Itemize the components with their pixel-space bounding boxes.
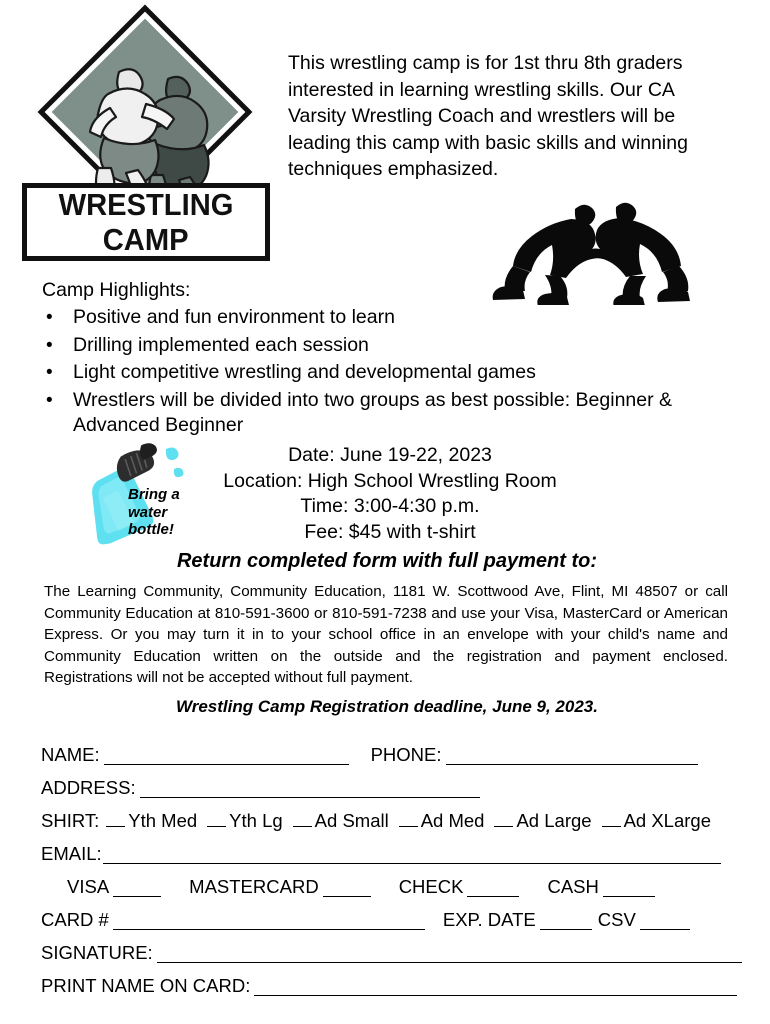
visa-checkbox[interactable] bbox=[113, 877, 161, 897]
list-item-label: Light competitive wrestling and developm… bbox=[73, 361, 536, 383]
detail-date: Date: June 19-22, 2023 bbox=[190, 443, 590, 469]
logo-title-line1: WRESTLING bbox=[59, 189, 234, 220]
email-label: EMAIL: bbox=[41, 841, 102, 867]
bottle-caption-line3: bottle! bbox=[128, 521, 198, 539]
csv-label: CSV bbox=[598, 907, 636, 933]
form-row-email: EMAIL: bbox=[41, 834, 733, 867]
shirt-checkbox bbox=[293, 812, 312, 827]
intro-paragraph: This wrestling camp is for 1st thru 8th … bbox=[288, 50, 734, 183]
bottle-caption-line2: water bbox=[128, 504, 198, 522]
list-item: •Drilling implemented each session bbox=[42, 333, 742, 359]
return-instruction-heading: Return completed form with full payment … bbox=[42, 550, 732, 573]
check-checkbox[interactable] bbox=[467, 877, 519, 897]
mastercard-label: MASTERCARD bbox=[189, 874, 319, 900]
logo-title-line2: CAMP bbox=[103, 224, 189, 255]
print-name-label: PRINT NAME ON CARD: bbox=[41, 973, 250, 999]
print-name-input[interactable] bbox=[254, 976, 737, 996]
form-row-payment-method: VISA MASTERCARD CHECK CASH bbox=[41, 867, 733, 900]
address-label: ADDRESS: bbox=[41, 775, 136, 801]
csv-input[interactable] bbox=[640, 910, 690, 930]
signature-label: SIGNATURE: bbox=[41, 940, 153, 966]
shirt-option-label: Yth Lg bbox=[229, 810, 283, 831]
bullet-icon: • bbox=[46, 305, 53, 331]
shirt-checkbox bbox=[494, 812, 513, 827]
shirt-option-label: Ad Med bbox=[421, 810, 485, 831]
card-number-input[interactable] bbox=[113, 910, 425, 930]
shirt-option-ad-med[interactable]: Ad Med bbox=[399, 808, 485, 834]
shirt-label: SHIRT: bbox=[41, 808, 99, 834]
name-label: NAME: bbox=[41, 742, 100, 768]
shirt-option-label: Ad Large bbox=[516, 810, 591, 831]
shirt-option-label: Ad Small bbox=[315, 810, 389, 831]
bullet-icon: • bbox=[46, 388, 53, 414]
shirt-option-label: Yth Med bbox=[128, 810, 197, 831]
wrestling-camp-logo: WRESTLING CAMP bbox=[22, 28, 272, 263]
phone-label: PHONE: bbox=[371, 742, 442, 768]
exp-date-input[interactable] bbox=[540, 910, 592, 930]
shirt-checkbox bbox=[207, 812, 226, 827]
signature-input[interactable] bbox=[157, 943, 742, 963]
shirt-checkbox bbox=[106, 812, 125, 827]
bullet-icon: • bbox=[46, 360, 53, 386]
shirt-checkbox bbox=[602, 812, 621, 827]
detail-fee: Fee: $45 with t-shirt bbox=[190, 520, 590, 546]
list-item-label: Drilling implemented each session bbox=[73, 334, 369, 356]
form-row-card: CARD # EXP. DATE CSV bbox=[41, 900, 733, 933]
visa-label: VISA bbox=[67, 874, 109, 900]
shirt-option-label: Ad XLarge bbox=[624, 810, 711, 831]
list-item-label: Positive and fun environment to learn bbox=[73, 306, 395, 328]
camp-highlights-section: Camp Highlights: •Positive and fun envir… bbox=[42, 278, 742, 441]
flyer-page: WRESTLING CAMP This wrestling camp is fo… bbox=[0, 0, 770, 1024]
form-row-signature: SIGNATURE: bbox=[41, 933, 733, 966]
mastercard-checkbox[interactable] bbox=[323, 877, 371, 897]
list-item: •Wrestlers will be divided into two grou… bbox=[42, 388, 742, 439]
shirt-option-ad-xlarge[interactable]: Ad XLarge bbox=[602, 808, 711, 834]
card-number-label: CARD # bbox=[41, 907, 109, 933]
shirt-option-yth-lg[interactable]: Yth Lg bbox=[207, 808, 283, 834]
list-item: •Light competitive wrestling and develop… bbox=[42, 360, 742, 386]
bottle-caption: Bring a water bottle! bbox=[128, 486, 198, 539]
check-label: CHECK bbox=[399, 874, 464, 900]
detail-time: Time: 3:00-4:30 p.m. bbox=[190, 494, 590, 520]
shirt-option-ad-large[interactable]: Ad Large bbox=[494, 808, 591, 834]
registration-deadline: Wrestling Camp Registration deadline, Ju… bbox=[42, 697, 732, 717]
phone-input[interactable] bbox=[446, 745, 698, 765]
shirt-option-yth-med[interactable]: Yth Med bbox=[106, 808, 197, 834]
bottle-caption-line1: Bring a bbox=[128, 486, 198, 504]
form-row-shirt: SHIRT: Yth Med Yth Lg Ad Small Ad Med Ad… bbox=[41, 801, 733, 834]
address-input[interactable] bbox=[140, 778, 480, 798]
cash-label: CASH bbox=[547, 874, 598, 900]
email-input[interactable] bbox=[103, 844, 721, 864]
form-row-address: ADDRESS: bbox=[41, 768, 733, 801]
list-item-label: Wrestlers will be divided into two group… bbox=[73, 389, 672, 437]
payment-instructions: The Learning Community, Community Educat… bbox=[44, 581, 728, 689]
registration-form: NAME: PHONE: ADDRESS: SHIRT: Yth Med Yth… bbox=[41, 735, 733, 999]
list-item: •Positive and fun environment to learn bbox=[42, 305, 742, 331]
cash-checkbox[interactable] bbox=[603, 877, 655, 897]
shirt-option-ad-small[interactable]: Ad Small bbox=[293, 808, 389, 834]
detail-location: Location: High School Wrestling Room bbox=[190, 469, 590, 495]
payment-instructions-text: The Learning Community, Community Educat… bbox=[44, 581, 728, 689]
bullet-icon: • bbox=[46, 333, 53, 359]
exp-date-label: EXP. DATE bbox=[443, 907, 536, 933]
highlights-list: •Positive and fun environment to learn •… bbox=[42, 305, 742, 439]
highlights-heading: Camp Highlights: bbox=[42, 278, 742, 303]
form-row-name-phone: NAME: PHONE: bbox=[41, 735, 733, 768]
form-row-print-name: PRINT NAME ON CARD: bbox=[41, 966, 733, 999]
camp-details-block: Date: June 19-22, 2023 Location: High Sc… bbox=[190, 443, 590, 545]
shirt-checkbox bbox=[399, 812, 418, 827]
logo-title-plate: WRESTLING CAMP bbox=[22, 183, 270, 261]
name-input[interactable] bbox=[104, 745, 349, 765]
